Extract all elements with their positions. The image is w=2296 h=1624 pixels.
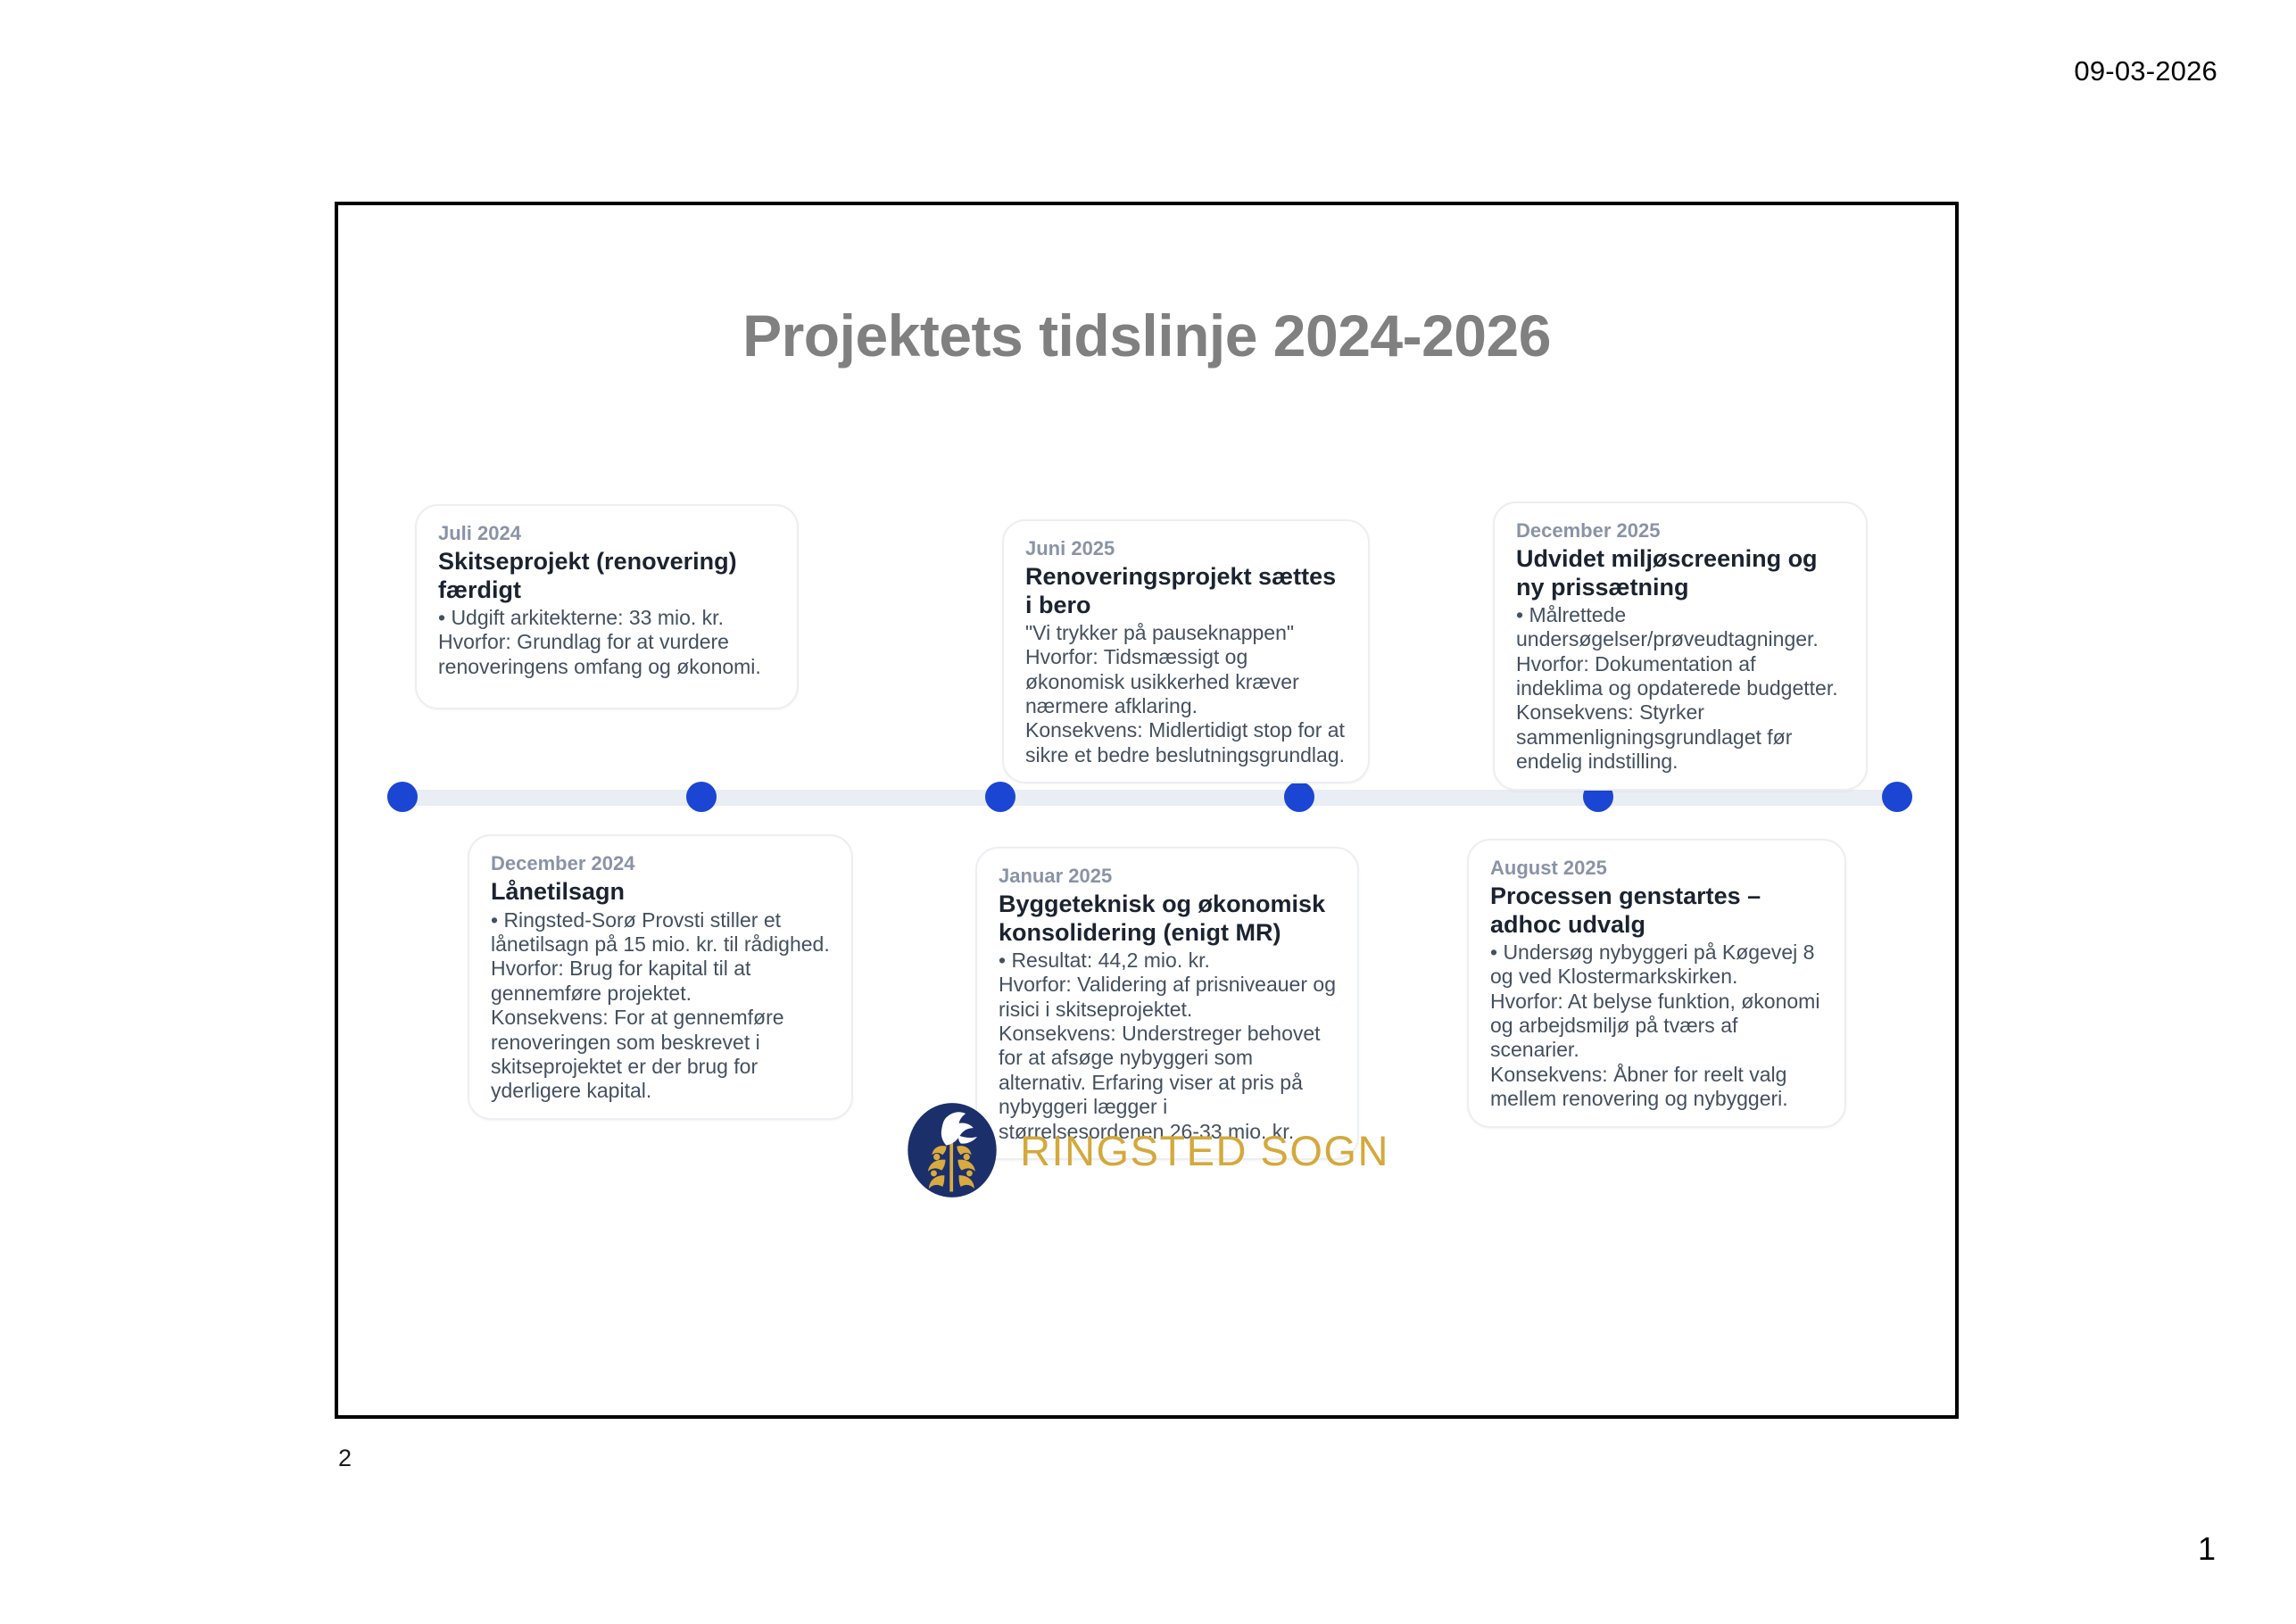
timeline-dot-6[interactable] — [1882, 782, 1912, 812]
page-number: 1 — [2198, 1530, 2216, 1568]
timeline-card-juni-2025[interactable]: Juni 2025 Renoveringsprojekt sættes i be… — [1002, 519, 1370, 783]
timeline-card-juli-2024[interactable]: Juli 2024 Skitseprojekt (renovering) fær… — [415, 504, 799, 709]
card-body: • Udgift arkitekterne: 33 mio. kr. Hvorf… — [438, 606, 777, 679]
slide-frame: Projektets tidslinje 2024-2026 Juli 2024… — [335, 202, 1959, 1419]
card-title: Skitseprojekt (renovering) færdigt — [438, 548, 777, 604]
timeline-dot-3[interactable] — [985, 782, 1015, 812]
card-title: Processen genstartes – adhoc udvalg — [1490, 882, 1825, 939]
card-date: December 2024 — [491, 852, 832, 875]
card-title: Udvidet miljøscreening og ny prissætning — [1516, 545, 1846, 601]
brand-logo: RINGSTED SOGN — [338, 1102, 1955, 1198]
page-title: Projektets tidslinje 2024-2026 — [338, 302, 1955, 369]
card-date: Juli 2024 — [438, 522, 777, 545]
timeline-card-december-2024[interactable]: December 2024 Lånetilsagn • Ringsted-Sor… — [468, 834, 853, 1120]
card-date: August 2025 — [1490, 857, 1825, 880]
slide-number: 2 — [338, 1445, 352, 1472]
timeline-axis — [402, 790, 1897, 806]
card-date: December 2025 — [1516, 519, 1846, 543]
card-date: Januar 2025 — [999, 865, 1338, 888]
card-date: Juni 2025 — [1025, 537, 1348, 560]
timeline-card-december-2025[interactable]: December 2025 Udvidet miljøscreening og … — [1493, 501, 1868, 791]
timeline-dot-4[interactable] — [1284, 782, 1314, 812]
card-body: • Undersøg nybyggeri på Køgevej 8 og ved… — [1490, 940, 1825, 1112]
logo-text: RINGSTED SOGN — [1020, 1126, 1389, 1175]
card-body: • Målrettede undersøgelser/prøveudtagnin… — [1516, 603, 1846, 775]
card-body: • Ringsted-Sorø Provsti stiller et lånet… — [491, 908, 832, 1104]
timeline-dot-1[interactable] — [387, 782, 418, 812]
timeline-card-august-2025[interactable]: August 2025 Processen genstartes – adhoc… — [1467, 839, 1846, 1128]
card-title: Renoveringsprojekt sættes i bero — [1025, 563, 1348, 619]
card-title: Byggeteknisk og økonomisk konsolidering … — [999, 891, 1338, 947]
card-title: Lånetilsagn — [491, 878, 832, 906]
timeline-dot-2[interactable] — [686, 782, 717, 812]
document-date: 09-03-2026 — [2074, 55, 2217, 87]
card-body: "Vi trykker på pauseknappen" Hvorfor: Ti… — [1025, 621, 1348, 767]
ringsted-sogn-emblem-icon — [904, 1102, 1000, 1198]
